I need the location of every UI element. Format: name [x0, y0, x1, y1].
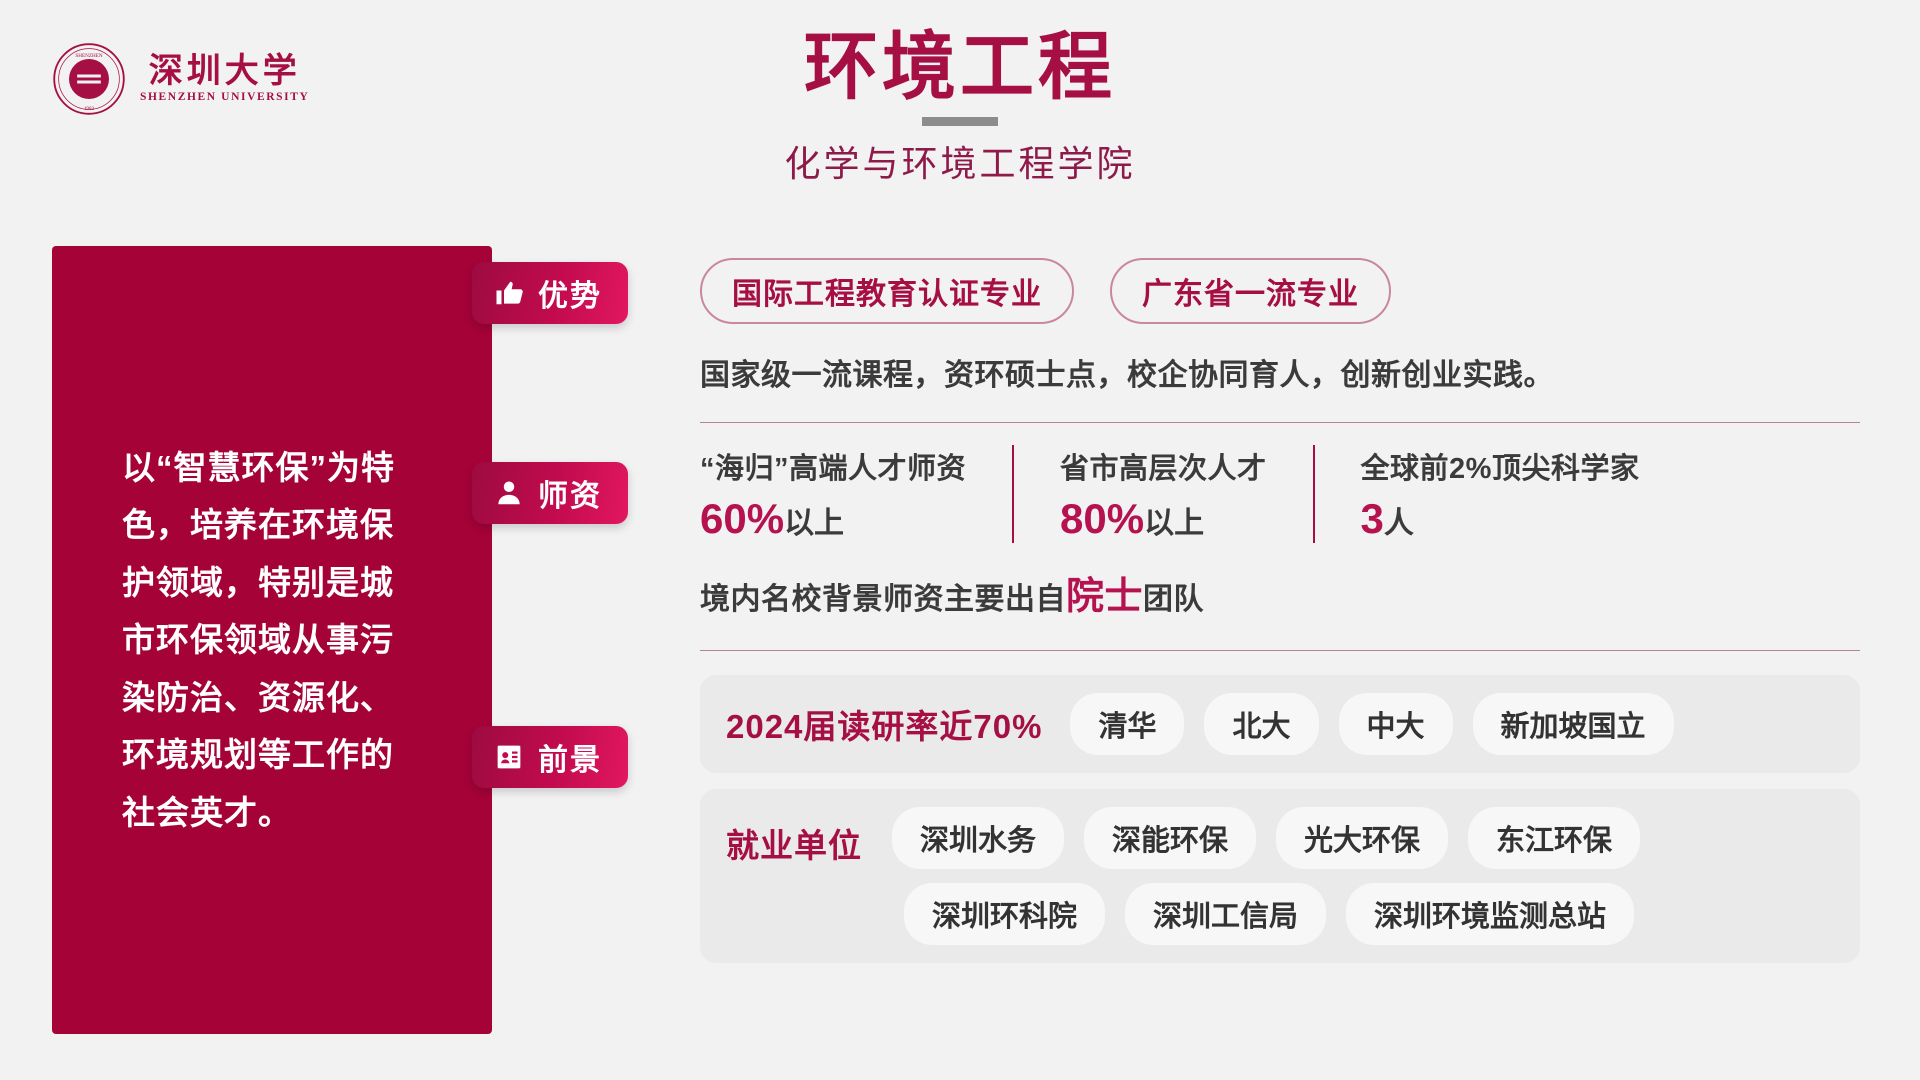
- faculty-stats: “海归”高端人才师资 60%以上 省市高层次人才 80%以上 全球前2%顶尖科学…: [700, 445, 1860, 543]
- content-column: 国际工程教育认证专业 广东省一流专业 国家级一流课程，资环硕士点，校企协同育人，…: [700, 246, 1860, 963]
- section-badge-prospects-label: 前景: [538, 735, 602, 779]
- faculty-stat-number: 3: [1361, 495, 1384, 542]
- faculty-stat-value: 80%以上: [1060, 495, 1267, 543]
- university-seal-icon: SHENZHEN 1983: [52, 42, 126, 116]
- faculty-stat: 省市高层次人才 80%以上: [1012, 445, 1313, 543]
- advantage-pill[interactable]: 国际工程教育认证专业: [700, 258, 1074, 324]
- employer-chip[interactable]: 光大环保: [1276, 807, 1448, 869]
- employer-chip-row: 深圳环科院 深圳工信局 深圳环境监测总站: [892, 883, 1640, 945]
- logo-chinese-name: 深圳大学: [149, 55, 301, 89]
- employer-chip-row: 深圳水务 深能环保 光大环保 东江环保: [892, 807, 1640, 869]
- section-divider: [700, 650, 1860, 651]
- section-badge-faculty-label: 师资: [538, 471, 602, 515]
- faculty-note-prefix: 境内名校背景师资主要出自: [700, 583, 1066, 616]
- university-logo: SHENZHEN 1983 深圳大学 SHENZHEN UNIVERSITY: [52, 42, 309, 116]
- employment-grid: 就业单位 深圳水务 深能环保 光大环保 东江环保 深圳环科院 深圳工信局 深圳环…: [726, 807, 1834, 945]
- faculty-note-highlight: 院士: [1066, 576, 1143, 618]
- graduate-rate-headline: 2024届读研率近70%: [726, 700, 1042, 748]
- employer-chip[interactable]: 深圳水务: [892, 807, 1064, 869]
- advantage-description: 国家级一流课程，资环硕士点，校企协同育人，创新创业实践。: [700, 350, 1860, 394]
- faculty-stat: 全球前2%顶尖科学家 3人: [1313, 445, 1686, 543]
- employer-chip[interactable]: 深圳环境监测总站: [1346, 883, 1634, 945]
- intro-panel-text: 以“智慧环保”为特色，培养在环境保护领域，特别是城市环保领域从事污染防治、资源化…: [122, 439, 422, 841]
- page-subtitle: 化学与环境工程学院: [640, 135, 1280, 187]
- faculty-stat-value: 3人: [1361, 495, 1640, 543]
- faculty-note: 境内名校背景师资主要出自院士团队: [700, 565, 1860, 620]
- advantage-pill[interactable]: 广东省一流专业: [1110, 258, 1391, 324]
- advantage-pill-row: 国际工程教育认证专业 广东省一流专业: [700, 258, 1860, 324]
- employer-chip[interactable]: 深能环保: [1084, 807, 1256, 869]
- faculty-note-suffix: 团队: [1143, 583, 1204, 616]
- faculty-stat-unit: 以上: [1144, 507, 1204, 540]
- school-chip[interactable]: 北大: [1204, 693, 1318, 755]
- faculty-stat-label: 全球前2%顶尖科学家: [1361, 445, 1640, 487]
- employer-chip[interactable]: 深圳工信局: [1125, 883, 1326, 945]
- employer-chip[interactable]: 深圳环科院: [904, 883, 1105, 945]
- faculty-stat-unit: 人: [1384, 507, 1414, 540]
- school-chip[interactable]: 清华: [1070, 693, 1184, 755]
- title-divider: [922, 117, 998, 126]
- faculty-stat: “海归”高端人才师资 60%以上: [700, 445, 1012, 543]
- logo-english-name: SHENZHEN UNIVERSITY: [140, 91, 309, 103]
- employer-chip-rows: 深圳水务 深能环保 光大环保 东江环保 深圳环科院 深圳工信局 深圳环境监测总站: [892, 807, 1640, 945]
- faculty-stat-value: 60%以上: [700, 495, 966, 543]
- faculty-stat-number: 80%: [1060, 495, 1144, 542]
- school-chip[interactable]: 新加坡国立: [1473, 693, 1674, 755]
- thumbs-up-icon: [494, 278, 524, 308]
- id-card-icon: [494, 742, 524, 772]
- employer-chip[interactable]: 东江环保: [1468, 807, 1640, 869]
- school-chip[interactable]: 中大: [1339, 693, 1453, 755]
- section-divider: [700, 422, 1860, 423]
- section-badge-faculty[interactable]: 师资: [472, 462, 628, 524]
- svg-text:SHENZHEN: SHENZHEN: [75, 53, 103, 59]
- svg-text:1983: 1983: [84, 106, 95, 112]
- faculty-stat-unit: 以上: [784, 507, 844, 540]
- faculty-stat-label: “海归”高端人才师资: [700, 445, 966, 487]
- graduate-school-chip-row: 清华 北大 中大 新加坡国立: [1070, 693, 1673, 755]
- intro-panel: 以“智慧环保”为特色，培养在环境保护领域，特别是城市环保领域从事污染防治、资源化…: [52, 246, 492, 1034]
- person-icon: [494, 478, 524, 508]
- employment-card: 就业单位 深圳水务 深能环保 光大环保 东江环保 深圳环科院 深圳工信局 深圳环…: [700, 789, 1860, 963]
- faculty-stat-number: 60%: [700, 495, 784, 542]
- employment-headline: 就业单位: [726, 807, 862, 867]
- section-badge-prospects[interactable]: 前景: [472, 726, 628, 788]
- title-block: 环境工程 化学与环境工程学院: [640, 28, 1280, 187]
- page-title: 环境工程: [640, 28, 1280, 106]
- section-badge-advantage[interactable]: 优势: [472, 262, 628, 324]
- section-badge-advantage-label: 优势: [538, 271, 602, 315]
- graduate-study-card: 2024届读研率近70% 清华 北大 中大 新加坡国立: [700, 675, 1860, 773]
- faculty-stat-label: 省市高层次人才: [1060, 445, 1267, 487]
- poster-canvas: SHENZHEN 1983 深圳大学 SHENZHEN UNIVERSITY 环…: [0, 0, 1920, 1080]
